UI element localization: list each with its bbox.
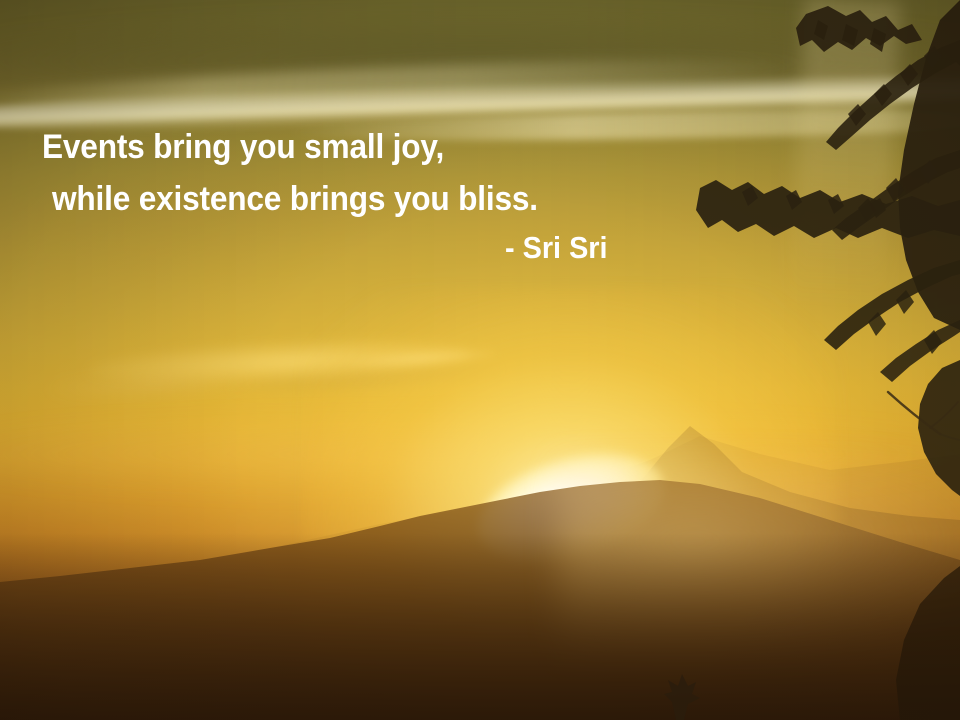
quote-attribution: - Sri Sri bbox=[505, 232, 608, 263]
quote-image-canvas: Events bring you small joy, while existe… bbox=[0, 0, 960, 720]
quote-line-2: while existence brings you bliss. bbox=[52, 182, 538, 216]
sky-warm-tint bbox=[0, 0, 960, 720]
quote-line-1: Events bring you small joy, bbox=[42, 130, 444, 164]
